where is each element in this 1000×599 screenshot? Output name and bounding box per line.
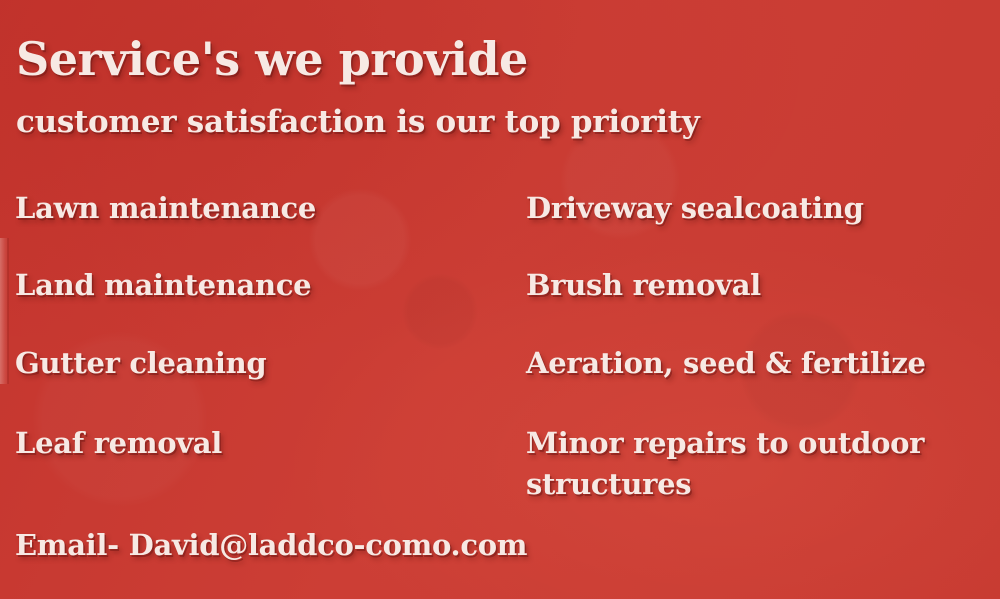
contact-email-line: Email- David@laddco-como.com — [15, 528, 527, 562]
service-item-land-maintenance: Land maintenance — [15, 265, 311, 306]
left-edge-shadow-line — [7, 238, 9, 384]
service-item-aeration-seed-fertilize: Aeration, seed & fertilize — [526, 343, 926, 384]
service-item-lawn-maintenance: Lawn maintenance — [15, 188, 316, 229]
service-item-leaf-removal: Leaf removal — [15, 423, 222, 464]
service-item-gutter-cleaning: Gutter cleaning — [15, 343, 266, 384]
services-poster: Service's we provide customer satisfacti… — [0, 0, 1000, 599]
service-item-driveway-sealcoating: Driveway sealcoating — [526, 188, 864, 229]
page-subtitle: customer satisfaction is our top priorit… — [16, 104, 699, 140]
page-title: Service's we provide — [16, 32, 528, 86]
service-item-minor-repairs-outdoor-structures: Minor repairs to outdoor structures — [526, 423, 926, 505]
left-edge-light-band — [0, 238, 9, 384]
service-item-brush-removal: Brush removal — [526, 265, 761, 306]
